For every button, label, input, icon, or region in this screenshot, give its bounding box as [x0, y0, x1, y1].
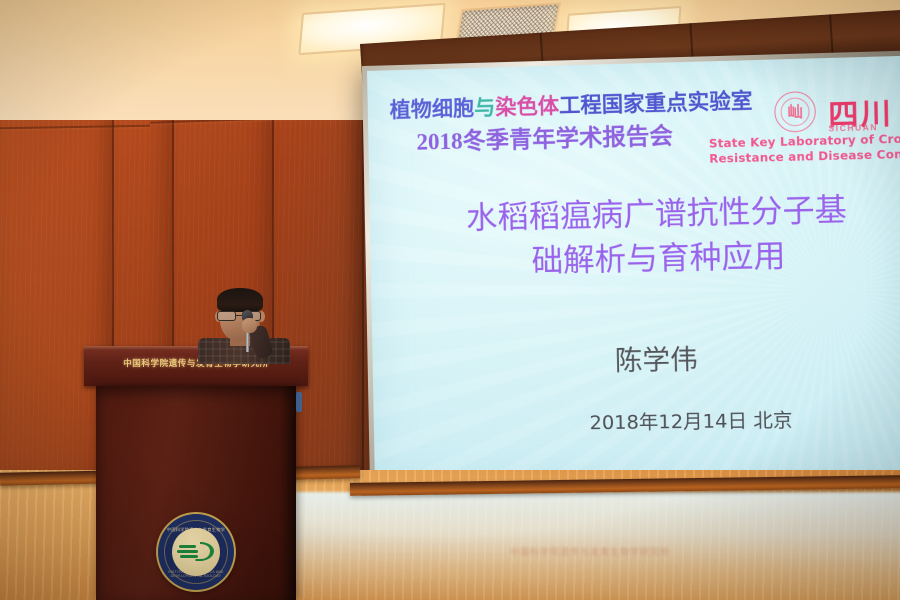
header-seg-3: 染色体	[495, 94, 559, 120]
seal-glyph: 屾	[775, 101, 815, 124]
presenter-hair	[217, 288, 263, 312]
presenter-hand	[242, 318, 257, 333]
lab-english-name: State Key Laboratory of Crop G Resistanc…	[709, 130, 900, 167]
podium-side-accent	[296, 392, 302, 412]
header-year-rest: 冬季青年学术报告会	[462, 123, 673, 154]
header-seg-1: 植物细胞	[390, 96, 475, 122]
slide-speaker-name: 陈学伟	[372, 334, 900, 382]
glasses-icon	[216, 311, 264, 321]
floor-reflected-text: 中国科学院遗传与发育生物学研究所	[460, 546, 720, 572]
lecture-hall-photo: 植物细胞与染色体工程国家重点实验室 2018冬季青年学术报告会 屾 四川 SIC…	[0, 0, 900, 600]
emblem-leaf-motif-icon	[176, 539, 216, 565]
cas-genetics-institute-emblem-icon: 中国科学院遗传与发育生物学研究所 INSTITUTE OF GENETICS A…	[158, 514, 234, 590]
header-seg-4: 工程国家重点实验室	[559, 89, 753, 118]
slide-date-location: 2018年12月14日 北京	[374, 404, 900, 438]
slide-main-title: 水稻稻瘟病广谱抗性分子基 础解析与育种应用	[369, 187, 900, 287]
presenter	[196, 286, 292, 350]
projection-screen: 植物细胞与染色体工程国家重点实验室 2018冬季青年学术报告会 屾 四川 SIC…	[367, 56, 900, 485]
header-seg-2: 与	[474, 95, 496, 120]
university-seal-icon: 屾	[774, 91, 816, 133]
glasses-lens-left	[217, 311, 236, 321]
projection-screen-frame: 植物细胞与染色体工程国家重点实验室 2018冬季青年学术报告会 屾 四川 SIC…	[362, 50, 900, 490]
header-year: 2018	[416, 129, 463, 155]
podium: 中国科学院遗传与发育生物学研究所 中国科学院遗传与发育生物学研究所 INSTIT…	[84, 346, 308, 600]
presentation-slide: 植物细胞与染色体工程国家重点实验室 2018冬季青年学术报告会 屾 四川 SIC…	[367, 56, 900, 485]
podium-body: 中国科学院遗传与发育生物学研究所 INSTITUTE OF GENETICS A…	[96, 386, 296, 600]
emblem-core	[172, 528, 220, 576]
